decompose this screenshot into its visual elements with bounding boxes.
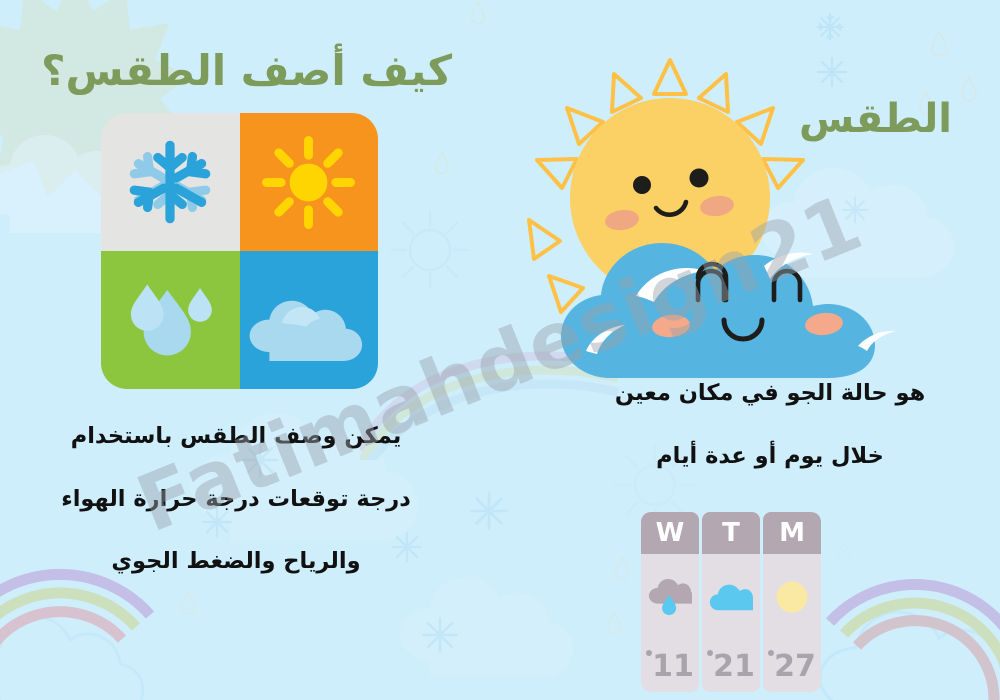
droplet-decoration xyxy=(960,75,978,103)
forecast-day-wednesday[interactable]: W 11 xyxy=(641,512,699,692)
weather-types-card xyxy=(101,113,378,389)
forecast-temperature: 11 xyxy=(646,640,694,692)
droplet-decoration xyxy=(606,610,622,636)
forecast-day-label: M xyxy=(763,512,821,554)
forecast-day-label: W xyxy=(641,512,699,554)
quadrant-cloudy xyxy=(240,251,379,389)
cloud-outline-decoration xyxy=(0,600,170,700)
droplet-decoration xyxy=(434,150,450,176)
snowflake-decoration xyxy=(468,490,510,532)
quadrant-snowy xyxy=(101,113,240,251)
temperature-value: 21 xyxy=(713,649,755,684)
rainbow-decoration xyxy=(800,495,1000,700)
forecast-rain-cloud-icon xyxy=(641,554,699,640)
forecast-temperature: 21 xyxy=(707,640,755,692)
raindrops-icon xyxy=(120,270,220,370)
snowflake-decoration xyxy=(420,615,460,655)
temperature-value: 11 xyxy=(652,649,694,684)
sun-icon xyxy=(256,130,361,235)
droplet-decoration xyxy=(614,555,630,581)
forecast-temperature: 27 xyxy=(768,640,816,692)
droplet-decoration xyxy=(470,0,486,26)
droplet-decoration xyxy=(836,540,852,566)
page-title-left: كيف أصف الطقس؟ xyxy=(72,46,452,95)
forecast-cloud-icon xyxy=(702,554,760,640)
rain-cloud-icon xyxy=(648,579,692,616)
quadrant-rainy xyxy=(101,251,240,389)
forecast-sun-icon xyxy=(763,554,821,640)
cloud-icon xyxy=(246,280,372,361)
cloud-decoration xyxy=(400,560,600,680)
snowflake-decoration xyxy=(815,12,845,42)
cloud-icon xyxy=(709,582,753,612)
temperature-value: 27 xyxy=(774,649,816,684)
snowflake-icon xyxy=(119,131,221,233)
description-line-3: والرياح والضغط الجوي xyxy=(0,550,472,573)
droplet-decoration xyxy=(180,590,196,616)
forecast-day-monday[interactable]: M 27 xyxy=(763,512,821,692)
quadrant-sunny xyxy=(240,113,379,251)
droplet-decoration xyxy=(930,30,948,58)
sun-outline-decoration xyxy=(380,200,480,300)
definition-paragraph: هو حالة الجو في مكان معين خلال يوم أو عد… xyxy=(540,382,1000,467)
forecast-day-tuesday[interactable]: T 21 xyxy=(702,512,760,692)
cloud-outline-decoration xyxy=(820,590,1000,700)
forecast-day-label: T xyxy=(702,512,760,554)
sun-icon xyxy=(772,577,812,617)
forecast-calendar[interactable]: M 27 T 21 W xyxy=(641,512,821,692)
slide-canvas: كيف أصف الطقس؟ الطقس xyxy=(0,0,1000,700)
definition-line-2: خلال يوم أو عدة أيام xyxy=(540,445,1000,468)
